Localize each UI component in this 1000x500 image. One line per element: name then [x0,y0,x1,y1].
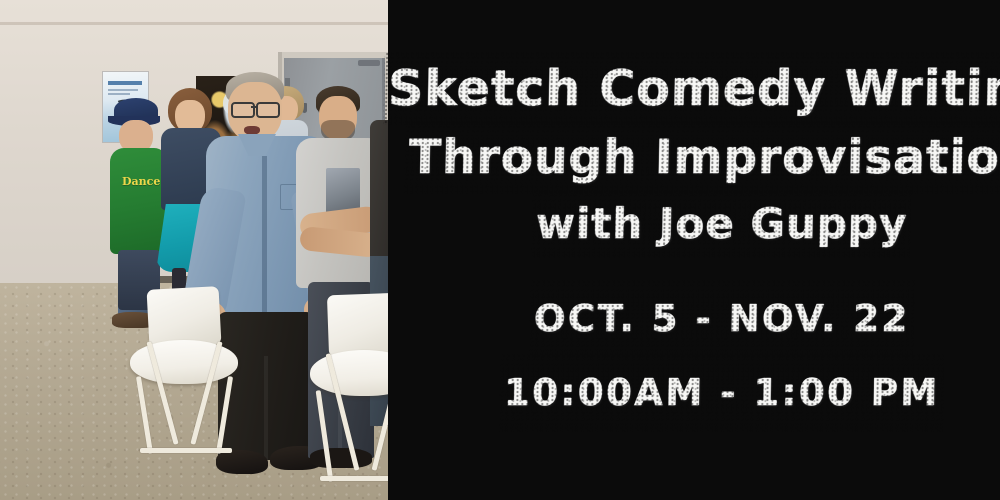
door-closer [358,60,380,66]
chair-seat [130,340,238,384]
event-title-line-2: Through Improvisation [408,123,1000,192]
chair-foot-rail [140,448,232,453]
chair-backrest [147,286,222,348]
chair-backrest [327,293,388,358]
event-title-line-1: Sketch Comedy Writing [387,54,1000,123]
workshop-photo: Dance [0,0,388,500]
poster-blue-text-line [108,93,130,95]
chair-leg [316,390,334,482]
chair-leg [216,376,233,454]
event-promo-banner: Dance [0,0,1000,500]
mouth [244,126,260,135]
chair-seat [310,350,388,396]
event-time-range: 10:00AM - 1:00 PM [503,356,940,430]
folding-chair-right [302,294,388,494]
glasses-lens-left [231,102,255,118]
chair-foot-rail [320,476,388,481]
event-instructor-line: with Joe Guppy [535,192,908,256]
text-panel: Sketch Comedy Writing Through Improvisat… [388,0,1000,500]
folding-chair-left [130,288,260,468]
glasses-lens-right [256,102,280,118]
trouser-seam [264,356,268,460]
wall-seam [0,22,388,25]
torso [370,120,388,260]
event-date-range: OCT. 5 - NOV. 22 [533,282,910,356]
poster-blue-text-line [108,89,138,91]
chair-leg [136,376,153,454]
poster-blue-headline [108,81,142,85]
glasses-bridge [251,106,257,108]
sweatshirt-print: Dance [122,176,156,218]
shirt-placket [262,156,267,316]
